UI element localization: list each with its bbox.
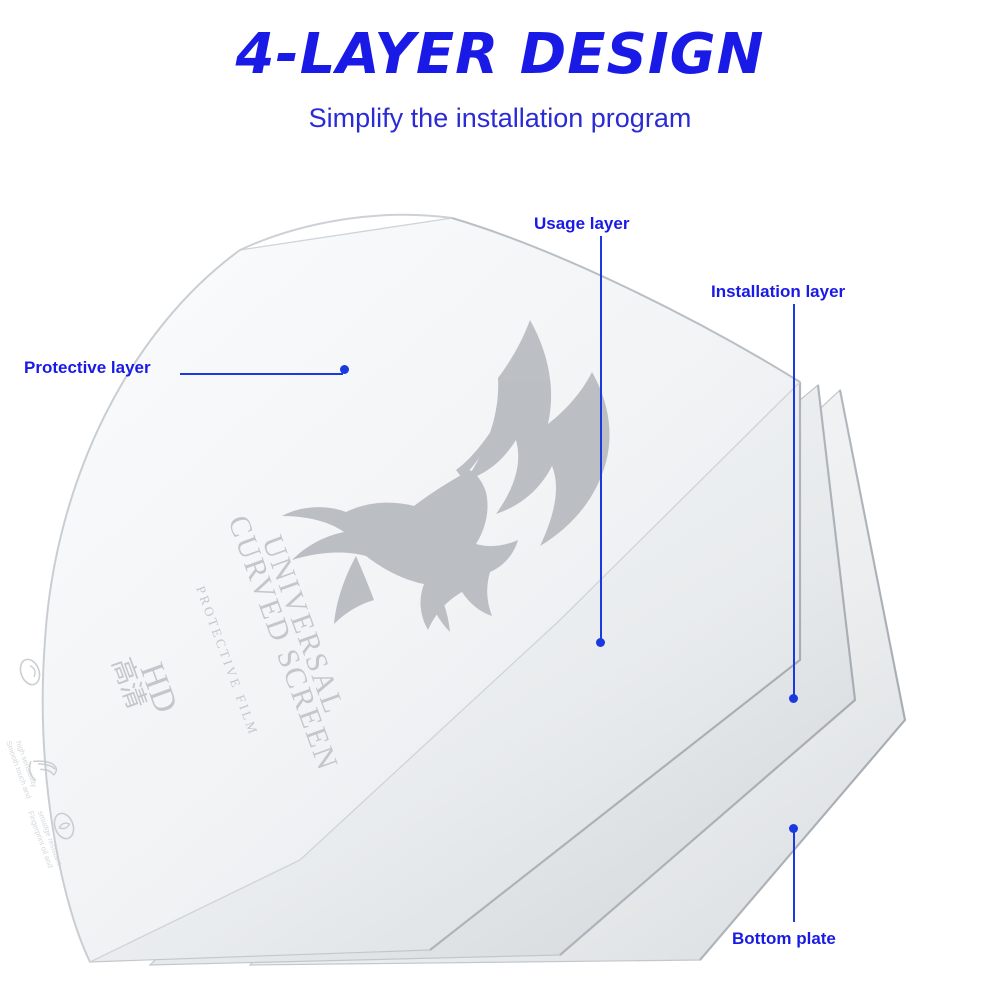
leader-dot-protective-layer: [340, 365, 349, 374]
leader-line-bottom-plate: [793, 830, 795, 922]
callout-label-usage-layer: Usage layer: [534, 214, 629, 234]
callout-label-protective-layer: Protective layer: [24, 358, 151, 378]
leader-line-protective-layer: [180, 373, 343, 375]
leader-line-usage-layer: [600, 236, 602, 642]
leader-dot-usage-layer: [596, 638, 605, 647]
poster-canvas: 4-LAYER DESIGN Simplify the installation…: [0, 0, 1000, 1000]
leader-line-installation-layer: [793, 304, 795, 698]
leader-dot-bottom-plate: [789, 824, 798, 833]
callout-label-bottom-plate: Bottom plate: [732, 929, 836, 949]
four-layer-film-illustration: UNIVERSAL CURVED SCREEN PROTECTIVE FILM …: [0, 0, 1000, 1000]
callout-label-installation-layer: Installation layer: [711, 282, 845, 302]
leader-dot-installation-layer: [789, 694, 798, 703]
